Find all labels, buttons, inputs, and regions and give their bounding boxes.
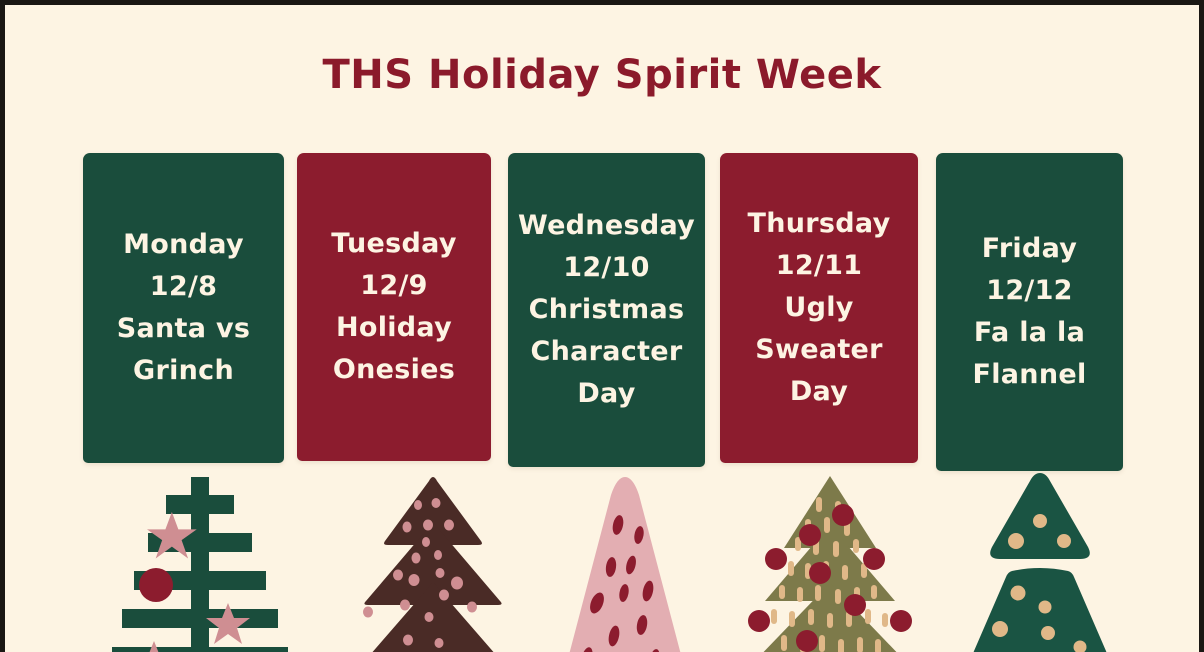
day-card-text: Friday12/12Fa la laFlannel [936,228,1123,396]
day-card-list: Monday12/8Santa vsGrinchTuesday12/9Holid… [83,153,1123,471]
day-card-weekday: Friday [936,228,1123,270]
day-card-wednesday: Wednesday12/10ChristmasCharacterDay [508,153,705,467]
day-card-date: 12/8 [83,266,284,308]
olive-textured-tree-icon [745,473,915,652]
day-card-text: Monday12/8Santa vsGrinch [83,224,284,392]
brown-dotted-tree-icon [338,475,528,652]
day-card-theme-line2: Grinch [83,350,284,392]
day-card-tuesday: Tuesday12/9HolidayOnesies [297,153,491,461]
day-card-thursday: Thursday12/11UglySweaterDay [720,153,918,463]
page-title: THS Holiday Spirit Week [5,33,1199,117]
day-card-text: Wednesday12/10ChristmasCharacterDay [508,205,705,415]
day-card-theme-line3: Day [508,373,705,415]
day-card-theme-line1: Christmas [508,289,705,331]
day-card-theme-line2: Sweater [720,329,918,371]
day-card-monday: Monday12/8Santa vsGrinch [83,153,284,463]
day-card-friday: Friday12/12Fa la laFlannel [936,153,1123,471]
day-card-date: 12/12 [936,270,1123,312]
day-card-text: Thursday12/11UglySweaterDay [720,203,918,413]
day-card-weekday: Tuesday [297,223,491,265]
holiday-spirit-week-poster: THS Holiday Spirit Week Monday12/8Santa … [0,0,1204,652]
day-card-theme-line1: Ugly [720,287,918,329]
day-card-weekday: Thursday [720,203,918,245]
day-card-theme-line2: Flannel [936,354,1123,396]
day-card-theme-line2: Character [508,331,705,373]
day-card-weekday: Monday [83,224,284,266]
geometric-ladder-tree-icon [110,475,290,652]
tree-decoration-band [5,475,1199,652]
day-card-weekday: Wednesday [508,205,705,247]
day-card-date: 12/10 [508,247,705,289]
day-card-theme-line1: Holiday [297,307,491,349]
day-card-date: 12/11 [720,245,918,287]
day-card-theme-line1: Fa la la [936,312,1123,354]
day-card-text: Tuesday12/9HolidayOnesies [297,223,491,391]
day-card-date: 12/9 [297,265,491,307]
day-card-theme-line1: Santa vs [83,308,284,350]
day-card-theme-line2: Onesies [297,349,491,391]
pink-cone-tree-icon [560,473,690,652]
green-two-tier-tree-icon [960,471,1120,652]
day-card-theme-line3: Day [720,371,918,413]
